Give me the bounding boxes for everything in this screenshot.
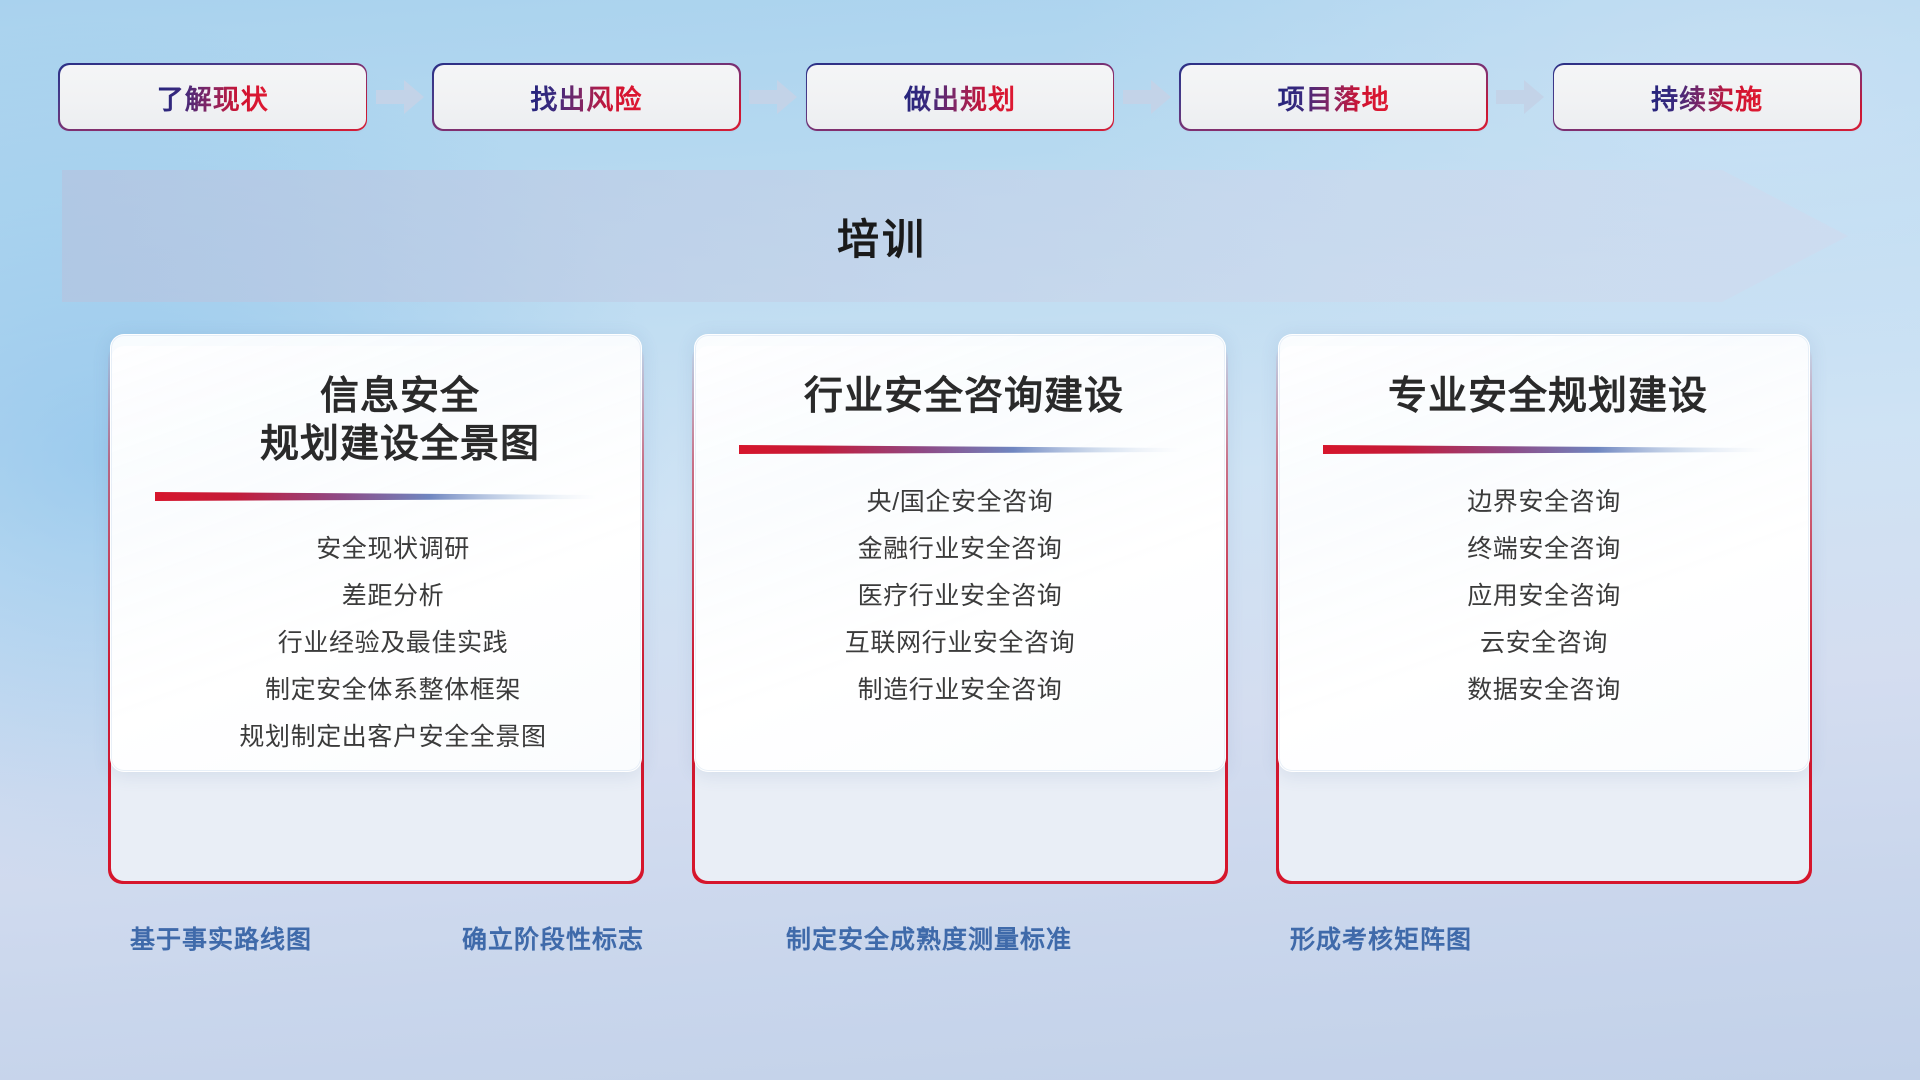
caption-label: 确立阶段性标志 [462,920,644,956]
arrow-right-icon [1121,77,1173,117]
list-item: 终端安全咨询 [1467,528,1621,570]
card-info-security-panorama[interactable]: 信息安全 规划建设全景图 [110,334,642,874]
step-box-4[interactable]: 项目落地 [1181,65,1487,129]
card-professional-security-planning[interactable]: 专业安全规划建设 [1278,334,1810,874]
card-inner: 行业安全咨询建设 [694,334,1226,772]
card-divider [1323,443,1765,455]
list-item: 数据安全咨询 [1467,669,1621,711]
step-box-3[interactable]: 做出规划 [807,65,1113,129]
caption-label: 基于事实路线图 [130,920,312,956]
card-inner: 信息安全 规划建设全景图 [110,334,642,772]
card-list: 边界安全咨询 终端安全咨询 应用安全咨询 云安全咨询 数据安全咨询 [1321,481,1767,711]
card-divider [155,490,597,502]
list-item: 规划制定出客户安全全景图 [239,716,546,758]
arrow-right-icon [374,77,426,117]
step-label: 了解现状 [157,78,269,117]
list-item: 差距分析 [342,575,444,617]
step-box-1[interactable]: 了解现状 [60,65,366,129]
list-item: 央/国企安全咨询 [867,481,1054,523]
step-label: 做出规划 [904,78,1016,117]
training-banner: 培训 [62,170,1848,302]
card-title: 行业安全咨询建设 [737,373,1183,421]
list-item: 行业经验及最佳实践 [278,622,508,664]
caption-row: 基于事实路线图 确立阶段性标志 制定安全成熟度测量标准 形成考核矩阵图 [0,920,1920,970]
arrow-right-icon [747,77,799,117]
process-step-row: 了解现状 找出风险 做出规划 项目落地 持续实施 [0,62,1920,132]
card-divider [739,443,1181,455]
step-label: 项目落地 [1278,78,1390,117]
step-label: 持续实施 [1651,78,1763,117]
step-label: 找出风险 [530,78,642,117]
card-list: 安全现状调研 差距分析 行业经验及最佳实践 制定安全体系整体框架 规划制定出客户… [153,528,599,758]
list-item: 应用安全咨询 [1467,575,1621,617]
card-list: 央/国企安全咨询 金融行业安全咨询 医疗行业安全咨询 互联网行业安全咨询 制造行… [737,481,1183,711]
caption-label: 形成考核矩阵图 [1290,920,1472,956]
list-item: 制定安全体系整体框架 [265,669,521,711]
list-item: 金融行业安全咨询 [858,528,1063,570]
caption-label: 制定安全成熟度测量标准 [786,920,1072,956]
list-item: 云安全咨询 [1480,622,1608,664]
step-box-2[interactable]: 找出风险 [434,65,740,129]
step-box-5[interactable]: 持续实施 [1554,65,1860,129]
card-title: 专业安全规划建设 [1321,373,1767,421]
list-item: 互联网行业安全咨询 [845,622,1075,664]
arrow-right-icon [1494,77,1546,117]
banner-label: 培训 [62,170,1702,302]
card-row: 信息安全 规划建设全景图 [0,334,1920,874]
card-title: 信息安全 规划建设全景图 [153,373,599,468]
list-item: 制造行业安全咨询 [858,669,1063,711]
list-item: 安全现状调研 [316,528,470,570]
card-inner: 专业安全规划建设 [1278,334,1810,772]
list-item: 医疗行业安全咨询 [858,575,1063,617]
card-industry-security-consulting[interactable]: 行业安全咨询建设 [694,334,1226,874]
list-item: 边界安全咨询 [1467,481,1621,523]
